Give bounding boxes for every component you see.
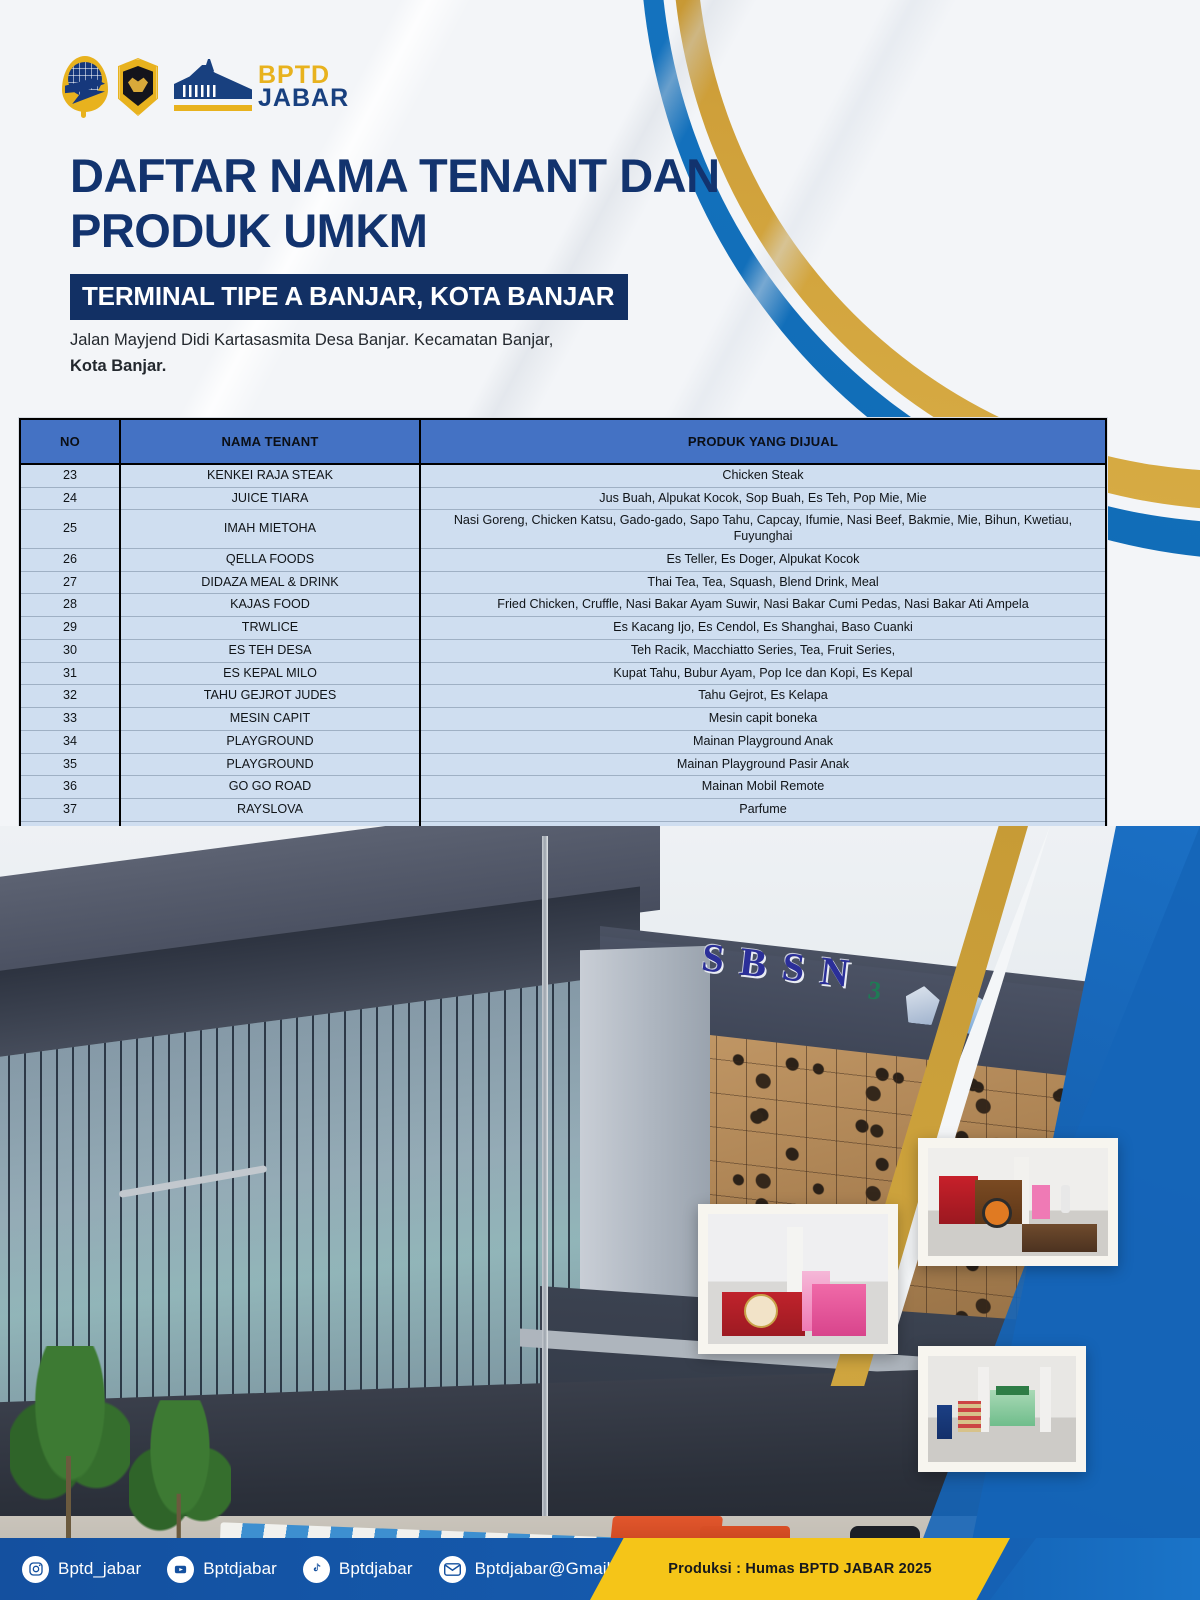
cell-tenant: TRWLICE [120, 617, 420, 640]
cell-tenant: KENKEI RAJA STEAK [120, 464, 420, 487]
bptd-logo-text-bottom: JABAR [258, 87, 349, 110]
cell-produk: Mainan Playground Anak [420, 730, 1106, 753]
cell-tenant: KAJAS FOOD [120, 594, 420, 617]
cell-no: 26 [20, 548, 120, 571]
cell-no: 31 [20, 662, 120, 685]
table-row: 24JUICE TIARAJus Buah, Alpukat Kocok, So… [20, 487, 1106, 510]
page-title-line-1: DAFTAR NAMA TENANT DAN [70, 148, 830, 203]
address-line-2: Kota Banjar. [70, 357, 166, 375]
table-header-row: NO NAMA TENANT PRODUK YANG DIJUAL [20, 419, 1106, 464]
cell-tenant: QELLA FOODS [120, 548, 420, 571]
cell-produk: Teh Racik, Macchiatto Series, Tea, Fruit… [420, 639, 1106, 662]
address-block: Jalan Mayjend Didi Kartasasmita Desa Ban… [70, 328, 770, 379]
cell-produk: Nasi Goreng, Chicken Katsu, Gado-gado, S… [420, 510, 1106, 548]
cell-no: 33 [20, 708, 120, 731]
cell-no: 34 [20, 730, 120, 753]
cell-no: 32 [20, 685, 120, 708]
footer-right-wedge [990, 1538, 1200, 1600]
table-row: 23KENKEI RAJA STEAKChicken Steak [20, 464, 1106, 487]
cell-produk: Es Teller, Es Doger, Alpukat Kocok [420, 548, 1106, 571]
table-row: 33MESIN CAPITMesin capit boneka [20, 708, 1106, 731]
sbsn-letter: B [737, 938, 769, 988]
table-row: 34PLAYGROUNDMainan Playground Anak [20, 730, 1106, 753]
bptd-terminal-mark-icon [174, 63, 252, 111]
social-links: Bptd_jabarBptdjabarBptdjabarBptdjabar@Gm… [0, 1556, 648, 1583]
cell-tenant: ES KEPAL MILO [120, 662, 420, 685]
produksi-badge: Produksi : Humas BPTD JABAR 2025 [590, 1538, 1010, 1600]
photo-collage: SBSN 3 [0, 826, 1200, 1600]
column-header-tenant: NAMA TENANT [120, 419, 420, 464]
table-row: 25IMAH MIETOHANasi Goreng, Chicken Katsu… [20, 510, 1106, 548]
street-light-pole [542, 836, 548, 1536]
tenant-table-container: NO NAMA TENANT PRODUK YANG DIJUAL 23KENK… [18, 417, 1108, 845]
address-line-1: Jalan Mayjend Didi Kartasasmita Desa Ban… [70, 331, 553, 349]
cell-no: 29 [20, 617, 120, 640]
cell-produk: Thai Tea, Tea, Squash, Blend Drink, Meal [420, 571, 1106, 594]
cell-no: 35 [20, 753, 120, 776]
column-header-no: NO [20, 419, 120, 464]
social-label: Bptdjabar [339, 1559, 413, 1579]
cell-no: 27 [20, 571, 120, 594]
table-row: 31ES KEPAL MILOKupat Tahu, Bubur Ayam, P… [20, 662, 1106, 685]
table-row: 37RAYSLOVAParfume [20, 799, 1106, 822]
cell-produk: Fried Chicken, Cruffle, Nasi Bakar Ayam … [420, 594, 1106, 617]
cell-tenant: PLAYGROUND [120, 730, 420, 753]
produksi-label: Produksi : Humas BPTD JABAR 2025 [668, 1561, 931, 1577]
social-link-instagram[interactable]: Bptd_jabar [22, 1556, 141, 1583]
page-title-line-2: PRODUK UMKM [70, 203, 830, 258]
inset-photo-minimarket [918, 1346, 1086, 1472]
cell-produk: Parfume [420, 799, 1106, 822]
logo-bar: BPTD JABAR [62, 56, 349, 118]
table-row: 36GO GO ROADMainan Mobil Remote [20, 776, 1106, 799]
cell-no: 28 [20, 594, 120, 617]
table-row: 29TRWLICEEs Kacang Ijo, Es Cendol, Es Sh… [20, 617, 1106, 640]
social-link-tiktok[interactable]: Bptdjabar [303, 1556, 413, 1583]
sbsn-letter: N [818, 947, 852, 997]
cell-tenant: JUICE TIARA [120, 487, 420, 510]
cell-tenant: TAHU GEJROT JUDES [120, 685, 420, 708]
email-icon[interactable] [439, 1556, 466, 1583]
perhubungan-darat-shield-icon [118, 58, 158, 116]
cell-no: 36 [20, 776, 120, 799]
poster-root: BPTD JABAR DAFTAR NAMA TENANT DAN PRODUK… [0, 0, 1200, 1600]
tree [10, 1346, 130, 1536]
cell-tenant: GO GO ROAD [120, 776, 420, 799]
cell-tenant: DIDAZA MEAL & DRINK [120, 571, 420, 594]
cell-tenant: MESIN CAPIT [120, 708, 420, 731]
cell-no: 23 [20, 464, 120, 487]
cell-produk: Chicken Steak [420, 464, 1106, 487]
dephub-globe-logo-icon [62, 56, 108, 118]
footer-bar: Bptd_jabarBptdjabarBptdjabarBptdjabar@Gm… [0, 1538, 1200, 1600]
bptd-jabar-logo: BPTD JABAR [174, 63, 349, 111]
cell-produk: Mainan Playground Pasir Anak [420, 753, 1106, 776]
youtube-icon[interactable] [167, 1556, 194, 1583]
sbsn-letter: S [699, 933, 726, 982]
table-row: 26QELLA FOODSEs Teller, Es Doger, Alpuka… [20, 548, 1106, 571]
inset-photo-food-court [918, 1138, 1118, 1266]
table-body: 23KENKEI RAJA STEAKChicken Steak24JUICE … [20, 464, 1106, 844]
column-header-produk: PRODUK YANG DIJUAL [420, 419, 1106, 464]
table-row: 28KAJAS FOODFried Chicken, Cruffle, Nasi… [20, 594, 1106, 617]
sbsn-letter: S [780, 942, 807, 991]
cell-produk: Es Kacang Ijo, Es Cendol, Es Shanghai, B… [420, 617, 1106, 640]
cell-tenant: PLAYGROUND [120, 753, 420, 776]
subtitle-banner: TERMINAL TIPE A BANJAR, KOTA BANJAR [70, 274, 628, 320]
social-link-youtube[interactable]: Bptdjabar [167, 1556, 277, 1583]
cell-tenant: ES TEH DESA [120, 639, 420, 662]
cell-produk: Kupat Tahu, Bubur Ayam, Pop Ice dan Kopi… [420, 662, 1106, 685]
inset-photo-tenant-booth [698, 1204, 898, 1354]
cell-no: 25 [20, 510, 120, 548]
cell-no: 24 [20, 487, 120, 510]
table-row: 27DIDAZA MEAL & DRINKThai Tea, Tea, Squa… [20, 571, 1106, 594]
instagram-icon[interactable] [22, 1556, 49, 1583]
cell-produk: Mesin capit boneka [420, 708, 1106, 731]
page-title: DAFTAR NAMA TENANT DAN PRODUK UMKM [70, 148, 830, 259]
cell-tenant: RAYSLOVA [120, 799, 420, 822]
social-label: Bptd_jabar [58, 1559, 141, 1579]
cell-produk: Tahu Gejrot, Es Kelapa [420, 685, 1106, 708]
cell-produk: Jus Buah, Alpukat Kocok, Sop Buah, Es Te… [420, 487, 1106, 510]
cell-no: 37 [20, 799, 120, 822]
table-row: 30ES TEH DESATeh Racik, Macchiatto Serie… [20, 639, 1106, 662]
cell-produk: Mainan Mobil Remote [420, 776, 1106, 799]
cell-tenant: IMAH MIETOHA [120, 510, 420, 548]
table-row: 32TAHU GEJROT JUDESTahu Gejrot, Es Kelap… [20, 685, 1106, 708]
cell-no: 30 [20, 639, 120, 662]
table-row: 35PLAYGROUNDMainan Playground Pasir Anak [20, 753, 1106, 776]
tiktok-icon[interactable] [303, 1556, 330, 1583]
social-label: Bptdjabar [203, 1559, 277, 1579]
tenant-table: NO NAMA TENANT PRODUK YANG DIJUAL 23KENK… [19, 418, 1107, 844]
